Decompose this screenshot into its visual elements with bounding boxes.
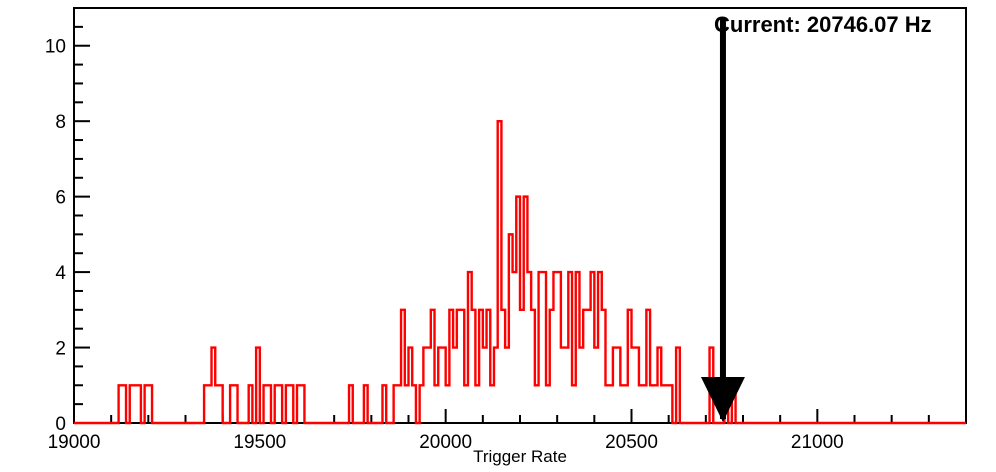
y-tick-label: 10 (45, 37, 66, 58)
y-axis-tick-labels: 0246810 (45, 37, 67, 435)
x-tick-label: 20500 (605, 432, 658, 453)
x-tick-label: 19000 (48, 432, 101, 453)
trigger-rate-histogram: 1900019500200002050021000 0246810 Curren… (0, 0, 996, 472)
current-value-label: Current: 20746.07 Hz (714, 12, 932, 37)
y-tick-label: 2 (55, 339, 66, 360)
y-tick-label: 6 (55, 188, 66, 209)
x-axis-title: Trigger Rate (473, 447, 567, 466)
x-tick-label: 21000 (791, 432, 844, 453)
y-tick-label: 0 (55, 414, 66, 435)
x-tick-label: 20000 (419, 432, 472, 453)
y-tick-label: 8 (55, 112, 66, 133)
y-tick-label: 4 (55, 263, 66, 284)
x-axis-tick-labels: 1900019500200002050021000 (48, 432, 844, 453)
x-tick-label: 19500 (233, 432, 286, 453)
histogram-plot-root: 1900019500200002050021000 0246810 Curren… (0, 0, 996, 472)
